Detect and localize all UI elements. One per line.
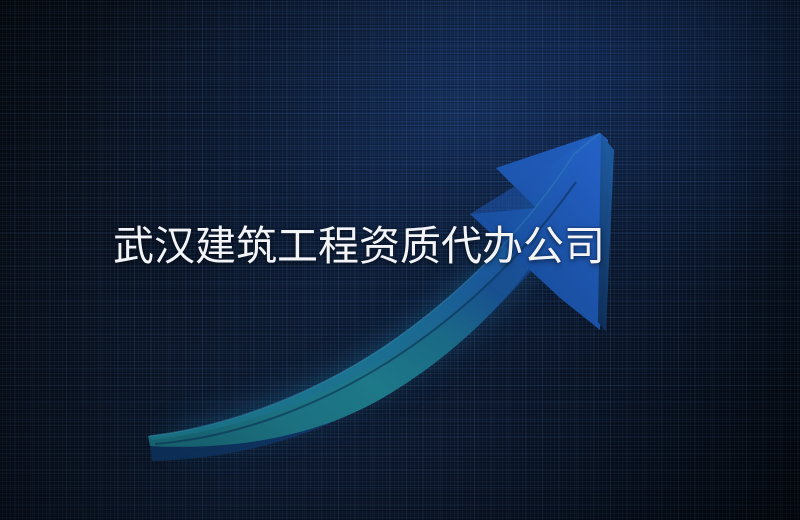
hero-banner: 武汉建筑工程资质代办公司: [0, 0, 800, 520]
page-title: 武汉建筑工程资质代办公司: [113, 217, 605, 275]
